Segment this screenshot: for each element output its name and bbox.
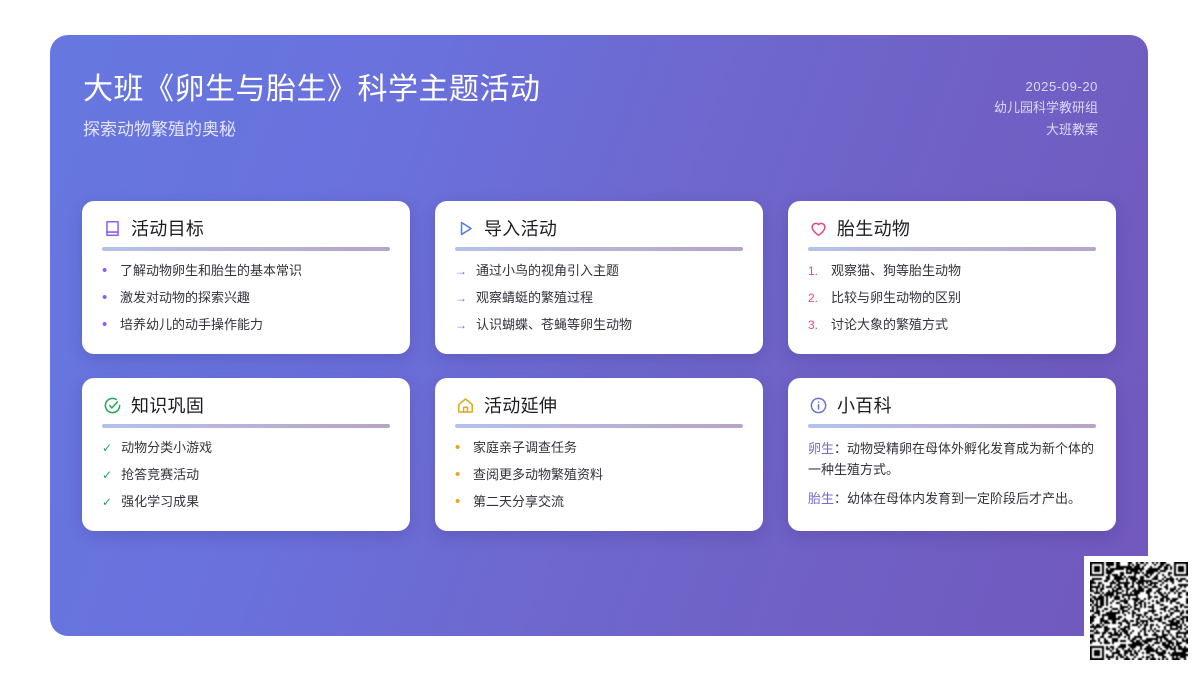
- definition-separator: ：: [834, 491, 847, 506]
- page-subtitle: 探索动物繁殖的奥秘: [83, 119, 541, 141]
- list-item: •了解动物卵生和胎生的基本常识: [102, 262, 390, 281]
- page-title: 大班《卵生与胎生》科学主题活动: [83, 71, 541, 109]
- list-item-label: 了解动物卵生和胎生的基本常识: [120, 262, 302, 281]
- list-item: →认识蝴蝶、苍蝇等卵生动物: [455, 316, 743, 335]
- card-knowledge-consolidation: 知识巩固✓动物分类小游戏✓抢答竞赛活动✓强化学习成果: [82, 378, 410, 531]
- card-underline: [808, 247, 1096, 251]
- qr-code-image: [1090, 562, 1188, 660]
- slide-header: 大班《卵生与胎生》科学主题活动 探索动物繁殖的奥秘 2025-09-20 幼儿园…: [50, 35, 1148, 141]
- list-item: •第二天分享交流: [455, 493, 743, 512]
- header-meta-block: 2025-09-20 幼儿园科学教研组 大班教案: [994, 71, 1098, 140]
- list-item: ✓强化学习成果: [102, 493, 390, 512]
- list-item-label: 观察蜻蜓的繁殖过程: [476, 289, 593, 308]
- arrow-icon: →: [455, 317, 467, 334]
- card-underline: [102, 424, 390, 428]
- meta-date: 2025-09-20: [994, 76, 1098, 97]
- card-body: ✓动物分类小游戏✓抢答竞赛活动✓强化学习成果: [102, 439, 390, 512]
- list-item-label: 动物分类小游戏: [121, 439, 212, 458]
- list-item-label: 抢答竞赛活动: [121, 466, 199, 485]
- list-item-label: 家庭亲子调查任务: [473, 439, 577, 458]
- card-body: •了解动物卵生和胎生的基本常识•激发对动物的探索兴趣•培养幼儿的动手操作能力: [102, 262, 390, 335]
- definition-entry: 胎生：幼体在母体内发育到一定阶段后才产出。: [808, 489, 1096, 510]
- list-marker-number: 3.: [808, 317, 822, 334]
- check-icon: ✓: [102, 440, 112, 457]
- info-circle-icon: [809, 396, 828, 415]
- slide-panel: 大班《卵生与胎生》科学主题活动 探索动物繁殖的奥秘 2025-09-20 幼儿园…: [50, 35, 1148, 636]
- card-introduction: 导入活动→通过小鸟的视角引入主题→观察蜻蜓的繁殖过程→认识蝴蝶、苍蝇等卵生动物: [435, 201, 763, 354]
- qr-code[interactable]: [1084, 556, 1194, 666]
- card-title: 胎生动物: [837, 220, 910, 238]
- card-grid: 活动目标•了解动物卵生和胎生的基本常识•激发对动物的探索兴趣•培养幼儿的动手操作…: [82, 201, 1116, 531]
- list-item-label: 第二天分享交流: [473, 493, 564, 512]
- list-item-label: 激发对动物的探索兴趣: [120, 289, 250, 308]
- list-item: →观察蜻蜓的繁殖过程: [455, 289, 743, 308]
- card-header: 知识巩固: [102, 396, 390, 415]
- list-item-label: 通过小鸟的视角引入主题: [476, 262, 619, 281]
- list-item-label: 查阅更多动物繁殖资料: [473, 466, 603, 485]
- list-item-label: 比较与卵生动物的区别: [831, 289, 961, 308]
- card-body: •家庭亲子调查任务•查阅更多动物繁殖资料•第二天分享交流: [455, 439, 743, 512]
- bullet-icon: •: [455, 466, 464, 484]
- list-item-label: 认识蝴蝶、苍蝇等卵生动物: [476, 316, 632, 335]
- definition-separator: ：: [834, 441, 847, 456]
- definition-text: 幼体在母体内发育到一定阶段后才产出。: [847, 491, 1081, 506]
- card-body: →通过小鸟的视角引入主题→观察蜻蜓的繁殖过程→认识蝴蝶、苍蝇等卵生动物: [455, 262, 743, 335]
- bullet-icon: •: [102, 316, 111, 334]
- list-item: •查阅更多动物繁殖资料: [455, 466, 743, 485]
- list-marker-number: 2.: [808, 290, 822, 307]
- list-marker-number: 1.: [808, 263, 822, 280]
- card-title: 活动延伸: [484, 397, 557, 415]
- card-title: 小百科: [837, 397, 892, 415]
- list-item-label: 观察猫、狗等胎生动物: [831, 262, 961, 281]
- list-item-label: 强化学习成果: [121, 493, 199, 512]
- slide-page: 大班《卵生与胎生》科学主题活动 探索动物繁殖的奥秘 2025-09-20 幼儿园…: [0, 0, 1200, 675]
- arrow-icon: →: [455, 263, 467, 280]
- bullet-icon: •: [102, 262, 111, 280]
- list-item: ✓抢答竞赛活动: [102, 466, 390, 485]
- card-header: 活动目标: [102, 219, 390, 238]
- card-objectives: 活动目标•了解动物卵生和胎生的基本常识•激发对动物的探索兴趣•培养幼儿的动手操作…: [82, 201, 410, 354]
- home-icon: [456, 396, 475, 415]
- arrow-icon: →: [455, 290, 467, 307]
- check-icon: ✓: [102, 467, 112, 484]
- card-title: 知识巩固: [131, 397, 204, 415]
- heart-icon: [809, 219, 828, 238]
- bullet-icon: •: [455, 493, 464, 511]
- card-activity-extension: 活动延伸•家庭亲子调查任务•查阅更多动物繁殖资料•第二天分享交流: [435, 378, 763, 531]
- header-title-block: 大班《卵生与胎生》科学主题活动 探索动物繁殖的奥秘: [83, 71, 541, 141]
- card-underline: [455, 247, 743, 251]
- definition-term: 卵生: [808, 441, 834, 456]
- card-underline: [102, 247, 390, 251]
- list-item: •激发对动物的探索兴趣: [102, 289, 390, 308]
- card-header: 导入活动: [455, 219, 743, 238]
- check-circle-icon: [103, 396, 122, 415]
- definition-entry: 卵生：动物受精卵在母体外孵化发育成为新个体的一种生殖方式。: [808, 439, 1096, 480]
- list-item: →通过小鸟的视角引入主题: [455, 262, 743, 281]
- card-encyclopedia: 小百科卵生：动物受精卵在母体外孵化发育成为新个体的一种生殖方式。胎生：幼体在母体…: [788, 378, 1116, 531]
- card-underline: [455, 424, 743, 428]
- play-triangle-icon: [456, 219, 475, 238]
- list-item-label: 培养幼儿的动手操作能力: [120, 316, 263, 335]
- check-icon: ✓: [102, 494, 112, 511]
- list-item: •家庭亲子调查任务: [455, 439, 743, 458]
- list-item: •培养幼儿的动手操作能力: [102, 316, 390, 335]
- book-icon: [103, 219, 122, 238]
- meta-doc-type: 大班教案: [994, 119, 1098, 140]
- list-item: 1.观察猫、狗等胎生动物: [808, 262, 1096, 281]
- card-header: 小百科: [808, 396, 1096, 415]
- list-item: ✓动物分类小游戏: [102, 439, 390, 458]
- card-underline: [808, 424, 1096, 428]
- meta-organization: 幼儿园科学教研组: [994, 97, 1098, 118]
- list-item-label: 讨论大象的繁殖方式: [831, 316, 948, 335]
- list-item: 2.比较与卵生动物的区别: [808, 289, 1096, 308]
- list-item: 3.讨论大象的繁殖方式: [808, 316, 1096, 335]
- card-title: 导入活动: [484, 220, 557, 238]
- card-body: 卵生：动物受精卵在母体外孵化发育成为新个体的一种生殖方式。胎生：幼体在母体内发育…: [808, 439, 1096, 510]
- card-title: 活动目标: [131, 220, 204, 238]
- card-header: 胎生动物: [808, 219, 1096, 238]
- card-viviparous-animals: 胎生动物1.观察猫、狗等胎生动物2.比较与卵生动物的区别3.讨论大象的繁殖方式: [788, 201, 1116, 354]
- card-body: 1.观察猫、狗等胎生动物2.比较与卵生动物的区别3.讨论大象的繁殖方式: [808, 262, 1096, 335]
- bullet-icon: •: [102, 289, 111, 307]
- definition-text: 动物受精卵在母体外孵化发育成为新个体的一种生殖方式。: [808, 441, 1094, 477]
- bullet-icon: •: [455, 439, 464, 457]
- card-header: 活动延伸: [455, 396, 743, 415]
- definition-term: 胎生: [808, 491, 834, 506]
